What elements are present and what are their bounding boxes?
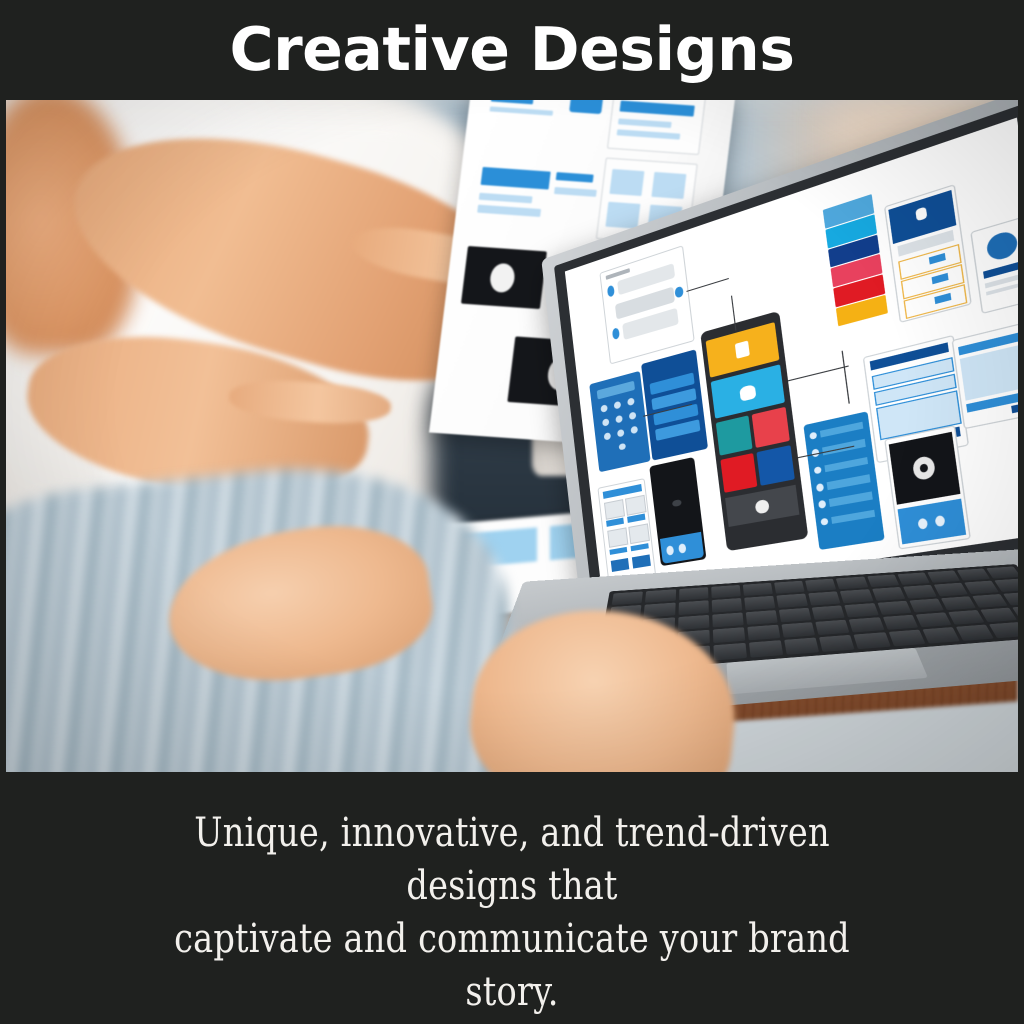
- caption-line-2: captivate and communicate your brand sto…: [174, 916, 850, 1015]
- page-title: Creative Designs: [230, 20, 795, 80]
- dark-phone-wireframe: [649, 457, 706, 566]
- caption-line-1: Unique, innovative, and trend-driven des…: [194, 810, 830, 909]
- tablet-wireframe: [951, 320, 1018, 430]
- camera-tile: [721, 453, 758, 493]
- color-palette-strip: [823, 194, 889, 332]
- title-band: Creative Designs: [0, 0, 1024, 100]
- connector-arrow: [686, 278, 728, 292]
- creative-designs-card: Creative Designs: [0, 0, 1024, 1024]
- settings-wireframe: [884, 184, 972, 323]
- list-wireframe: [641, 349, 708, 461]
- music-tile: [757, 445, 796, 486]
- tile-phone-wireframe: [700, 311, 808, 551]
- mail-tile: [752, 407, 790, 448]
- hero-photo: [6, 100, 1018, 772]
- connector-arrow: [842, 351, 850, 404]
- caption-band: Unique, innovative, and trend-driven des…: [0, 772, 1024, 1024]
- photo-scene: [6, 100, 1018, 772]
- keypad-wireframe: [589, 371, 651, 472]
- connector-arrow: [787, 365, 848, 381]
- gallery-wireframe: [597, 478, 656, 583]
- chat-wireframe: [599, 245, 695, 364]
- phone-tile: [716, 415, 753, 455]
- caption-text: Unique, innovative, and trend-driven des…: [134, 807, 890, 1018]
- badge-wireframe: [970, 215, 1018, 314]
